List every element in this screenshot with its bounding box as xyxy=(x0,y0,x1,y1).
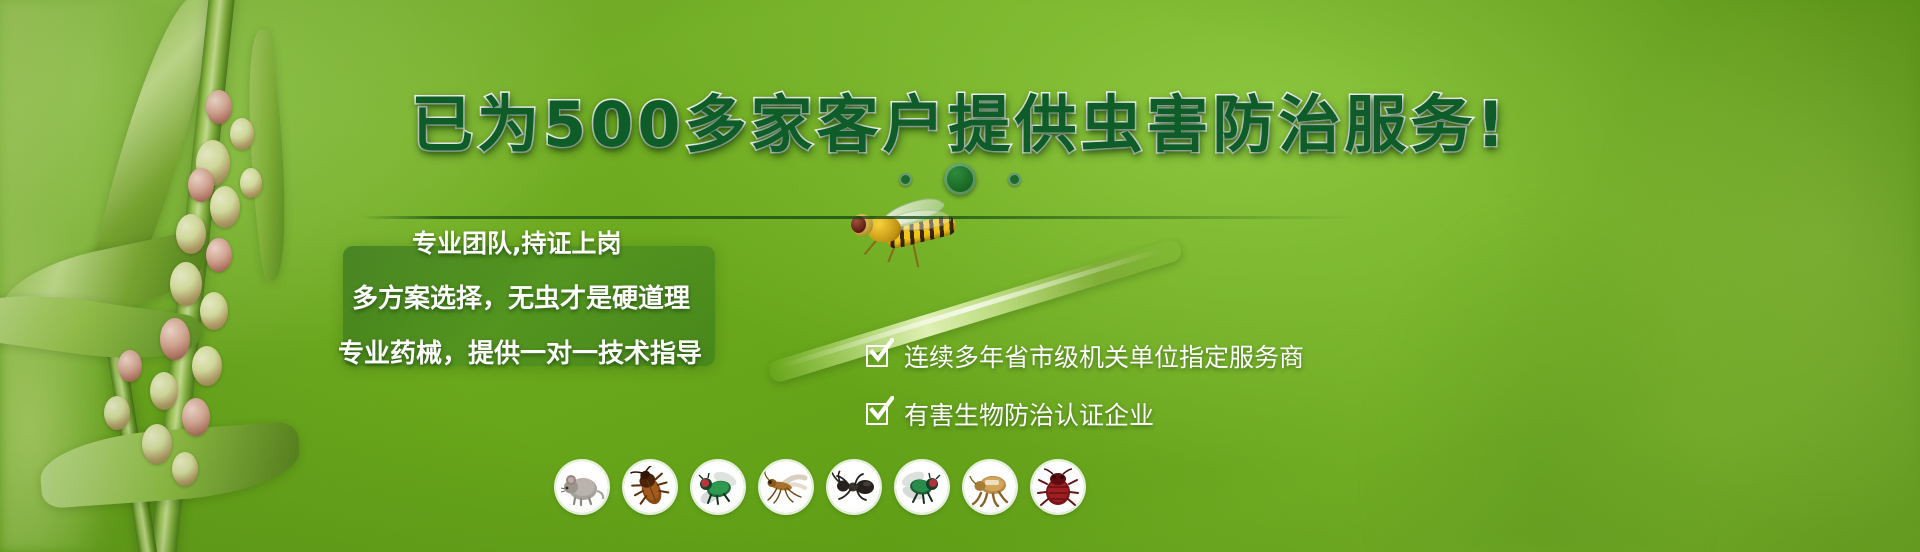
claims-panel-text: 专业团队,持证上岗 多方案选择，无虫才是硬道理 专业药械，提供一对一技术指导 xyxy=(330,210,750,375)
flea-icon[interactable] xyxy=(964,461,1016,513)
credential-label: 连续多年省市级机关单位指定服务商 xyxy=(904,338,1304,374)
greenfly-icon[interactable] xyxy=(692,461,744,513)
mosquito-icon[interactable] xyxy=(760,461,812,513)
checkbox-checked-icon xyxy=(866,402,890,426)
credential-item: 连续多年省市级机关单位指定服务商 xyxy=(866,338,1626,374)
claim-line-2: 多方案选择，无虫才是硬道理 xyxy=(352,278,750,315)
decorative-dots xyxy=(0,163,1920,195)
claim-line-3: 专业药械，提供一对一技术指导 xyxy=(338,333,750,370)
mouse-icon[interactable] xyxy=(556,461,608,513)
pest-icon-row xyxy=(556,461,1084,513)
dot-small-right xyxy=(1008,173,1021,186)
bedbug-icon[interactable] xyxy=(1032,461,1084,513)
banner-headline: 已为500多家客户提供虫害防治服务! xyxy=(0,74,1920,164)
credential-label: 有害生物防治认证企业 xyxy=(904,396,1154,432)
credential-list: 连续多年省市级机关单位指定服务商 有害生物防治认证企业 xyxy=(866,338,1626,454)
credential-item: 有害生物防治认证企业 xyxy=(866,396,1626,432)
dot-small-left xyxy=(899,173,912,186)
dot-large-center xyxy=(944,163,976,195)
ant-icon[interactable] xyxy=(828,461,880,513)
promotional-banner: 已为500多家客户提供虫害防治服务! 专业团队,持证上岗 多方案选择，无虫才是硬… xyxy=(0,0,1920,552)
cockroach-icon[interactable] xyxy=(624,461,676,513)
claim-line-1: 专业团队,持证上岗 xyxy=(412,224,750,260)
checkbox-checked-icon xyxy=(866,344,890,368)
housefly-icon[interactable] xyxy=(896,461,948,513)
